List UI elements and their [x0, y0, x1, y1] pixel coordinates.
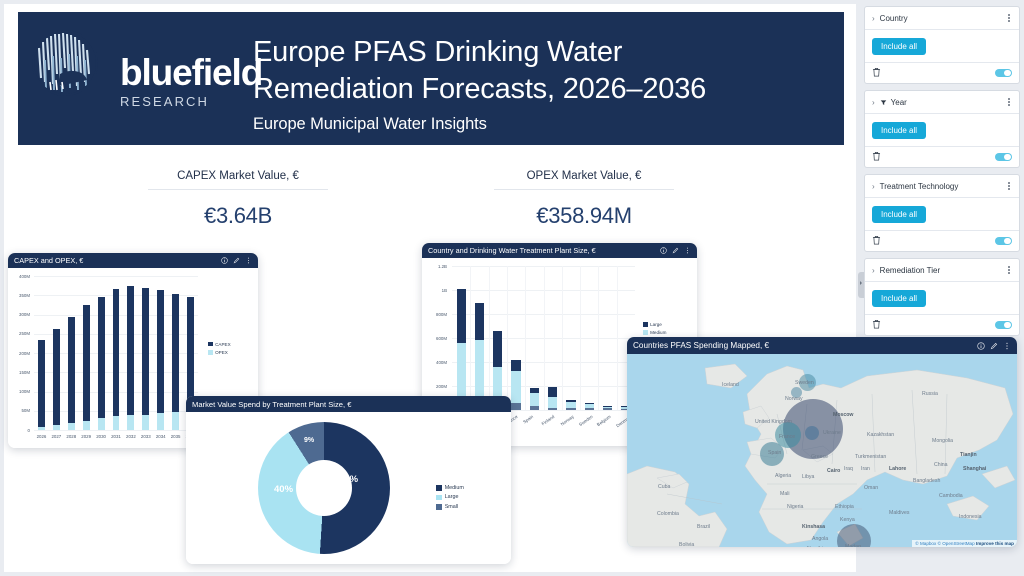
bar-segment-capex[interactable] [187, 297, 194, 411]
card-title: Country and Drinking Water Treatment Pla… [428, 246, 655, 255]
bar-segment-opex[interactable] [157, 413, 164, 430]
bar-segment-large[interactable] [475, 303, 484, 340]
bar-segment-opex[interactable] [127, 415, 134, 430]
map-bubble-italy[interactable] [805, 426, 819, 440]
x-axis-tick: 2028 [64, 434, 79, 439]
legend-label: Small [445, 503, 458, 511]
bar-segment-small[interactable] [603, 408, 612, 410]
legend-swatch [643, 322, 648, 327]
map-label: Bangladesh [913, 478, 940, 484]
map-label: Oman [864, 485, 878, 491]
bar-segment-medium[interactable] [603, 406, 612, 408]
filter-header[interactable]: ›Treatment Technology [865, 175, 1019, 198]
y-axis-tick: 250M [8, 331, 30, 336]
map-label: Mongolia [932, 438, 953, 444]
info-icon[interactable] [221, 257, 228, 264]
page-title-line1: Europe PFAS Drinking Water [253, 34, 833, 71]
legend-label: CAPEX [215, 341, 231, 348]
page-title-line2: Remediation Forecasts, 2026–2036 [253, 71, 833, 108]
x-axis-tick: 2033 [138, 434, 153, 439]
kebab-menu-icon[interactable] [1006, 266, 1012, 274]
legend-item: Medium [436, 484, 464, 492]
filter-name: Remediation Tier [880, 266, 1007, 275]
kpi-capex-market-value: CAPEX Market Value, € €3.64B [113, 166, 363, 229]
bar-segment-small[interactable] [566, 408, 575, 410]
x-axis-tick: Norway [559, 414, 574, 427]
vgridline [617, 266, 618, 410]
map-label: United Kingdom [755, 419, 792, 425]
y-axis-tick: 1.2B [422, 264, 447, 269]
donut-legend: MediumLargeSmall [436, 484, 464, 512]
toggle-switch-on[interactable] [995, 237, 1012, 246]
bar-segment-medium[interactable] [548, 397, 557, 408]
pencil-edit-icon[interactable] [990, 342, 998, 350]
legend-item: Large [436, 493, 464, 501]
vgridline [598, 266, 599, 410]
filter-card-year: ›YearInclude all [864, 90, 1020, 168]
map-label: Libya [802, 474, 814, 480]
vgridline [562, 266, 563, 410]
vgridline [544, 266, 545, 410]
bar-segment-large[interactable] [566, 400, 575, 401]
x-axis-tick: 2034 [153, 434, 168, 439]
pencil-edit-icon[interactable] [672, 247, 679, 254]
map-viewport[interactable]: IcelandSwedenNorwayUnited KingdomFranceS… [627, 354, 1017, 547]
y-axis-tick: 300M [8, 312, 30, 317]
bar-segment-small[interactable] [511, 403, 520, 410]
bar-segment-opex[interactable] [113, 416, 120, 430]
card-header: Market Value Spend by Treatment Plant Si… [186, 396, 511, 412]
legend-item: Small [436, 503, 464, 511]
map-label: Cairo [827, 468, 840, 474]
chevron-right-icon[interactable]: › [872, 98, 875, 107]
y-axis-tick: 800M [422, 312, 447, 317]
map-label: Maldives [889, 510, 909, 516]
bar-segment-capex[interactable] [113, 289, 120, 416]
vgridline [507, 266, 508, 410]
filter-header[interactable]: ›Year [865, 91, 1019, 114]
donut-label-large: 40% [274, 484, 293, 495]
bar-segment-capex[interactable] [68, 317, 75, 423]
map-label: Angola [812, 536, 828, 542]
map-label: Sweden [795, 380, 814, 386]
map-label: Shanghai [963, 466, 986, 472]
filter-footer [865, 63, 1019, 83]
vgridline [470, 266, 471, 410]
legend-swatch [208, 350, 213, 355]
bar-segment-opex[interactable] [83, 421, 90, 430]
page-subtitle: Europe Municipal Water Insights [253, 115, 833, 134]
kpi-opex-market-value: OPEX Market Value, € €358.94M [459, 166, 709, 229]
legend-item: CAPEX [208, 341, 231, 348]
bar-segment-opex[interactable] [53, 425, 60, 430]
kebab-menu-icon[interactable] [245, 257, 252, 264]
chevron-right-icon[interactable]: › [872, 182, 875, 191]
filter-panel: ›CountryInclude all›YearInclude all›Trea… [864, 6, 1020, 342]
filter-footer [865, 231, 1019, 251]
card-pfas-spending-map[interactable]: Countries PFAS Spending Mapped, € [627, 337, 1017, 547]
legend-swatch [436, 495, 442, 501]
trash-delete-icon[interactable] [872, 316, 881, 334]
map-label: China [934, 462, 948, 468]
trash-delete-icon[interactable] [872, 64, 881, 82]
map-label: Madag [845, 544, 861, 547]
include-all-button[interactable]: Include all [872, 206, 926, 223]
filter-footer [865, 315, 1019, 335]
legend-label: Large [650, 321, 662, 328]
kebab-menu-icon[interactable] [1006, 98, 1012, 106]
brand-name: bluefield [120, 54, 262, 91]
y-axis-tick: 200M [422, 384, 447, 389]
legend-swatch [436, 504, 442, 510]
vgridline [489, 266, 490, 410]
dashboard-canvas: bluefield RESEARCH Europe PFAS Drinking … [0, 0, 1024, 576]
bar-segment-capex[interactable] [172, 294, 179, 411]
y-axis-tick: 1B [422, 288, 447, 293]
y-axis-tick: 100M [8, 389, 30, 394]
x-axis-tick: 2030 [94, 434, 109, 439]
map-label: Ukraine [823, 430, 841, 436]
gridline [34, 430, 198, 431]
y-axis-tick: 350M [8, 293, 30, 298]
vgridline [580, 266, 581, 410]
map-label: Mali [780, 491, 790, 497]
legend-swatch [643, 330, 648, 335]
bar-segment-small[interactable] [585, 408, 594, 410]
donut-label-small: 9% [304, 437, 314, 444]
bar-segment-capex[interactable] [38, 340, 45, 427]
map-label: Turkmenistan [855, 454, 886, 460]
bar-segment-capex[interactable] [98, 297, 105, 418]
map-label: Iraq [844, 466, 853, 472]
kebab-menu-icon[interactable] [1003, 342, 1011, 350]
chart-plot-area: 51% 40% 9% MediumLargeSmall [186, 412, 511, 564]
x-axis-tick: 2035 [168, 434, 183, 439]
legend-item: OPEX [208, 349, 231, 356]
x-axis-tick: Belgium [596, 414, 612, 427]
bar-segment-capex[interactable] [142, 288, 149, 415]
filter-header[interactable]: ›Remediation Tier [865, 259, 1019, 282]
map-label: Spain [768, 450, 781, 456]
bar-segment-capex[interactable] [157, 290, 164, 413]
kebab-menu-icon[interactable] [1006, 182, 1012, 190]
bar-segment-opex[interactable] [38, 427, 45, 430]
map-label: Brazil [697, 524, 710, 530]
bar-segment-medium[interactable] [585, 404, 594, 408]
map-label: Kinshasa [802, 524, 825, 530]
filter-card-remediation-tier: ›Remediation TierInclude all [864, 258, 1020, 336]
map-label: Ethiopia [835, 504, 854, 510]
trash-delete-icon[interactable] [872, 148, 881, 166]
gridline [34, 276, 198, 277]
kpi-opex-value: €358.94M [459, 203, 709, 229]
map-label: Algeria [775, 473, 791, 479]
toggle-switch-on[interactable] [995, 69, 1012, 78]
filter-body: Include all [865, 30, 1019, 63]
toggle-switch-on[interactable] [995, 321, 1012, 330]
bar-segment-opex[interactable] [172, 412, 179, 430]
bar-segment-medium[interactable] [511, 371, 520, 403]
legend-label: Medium [445, 484, 464, 492]
filter-name: Country [880, 14, 1007, 23]
map-label: Kazakhstan [867, 432, 894, 438]
y-axis-tick: 50M [8, 408, 30, 413]
kpi-capex-label: CAPEX Market Value, € [148, 170, 328, 190]
map-label: Namibia [807, 546, 826, 547]
x-axis-tick: 2031 [109, 434, 124, 439]
legend-label: Medium [650, 329, 666, 336]
toggle-switch-on[interactable] [995, 153, 1012, 162]
map-label: Cambodia [939, 493, 963, 499]
x-axis-tick: 2026 [34, 434, 49, 439]
bar-segment-opex[interactable] [68, 423, 75, 430]
brand-wordmark: bluefield RESEARCH [120, 54, 262, 109]
filter-header[interactable]: ›Country [865, 7, 1019, 30]
improve-map-link[interactable]: Improve this map [976, 541, 1014, 546]
kebab-menu-icon[interactable] [684, 247, 691, 254]
y-axis-tick: 0 [8, 428, 30, 433]
filter-name: Treatment Technology [880, 182, 1007, 191]
bar-segment-large[interactable] [603, 406, 612, 407]
kpi-capex-value: €3.64B [113, 203, 363, 229]
x-axis-tick: Finland [541, 414, 556, 426]
toggle-knob [1004, 322, 1011, 329]
include-all-button[interactable]: Include all [872, 38, 926, 55]
chart-legend: CAPEXOPEX [208, 341, 231, 357]
info-icon[interactable] [660, 247, 667, 254]
bar-segment-opex[interactable] [98, 418, 105, 430]
bar-segment-capex[interactable] [127, 286, 134, 415]
y-axis-tick: 150M [8, 370, 30, 375]
brand-logo: bluefield RESEARCH [32, 30, 102, 100]
legend-item: Large [643, 321, 666, 328]
kpi-opex-label: OPEX Market Value, € [494, 170, 674, 190]
map-label: Iceland [722, 382, 739, 388]
map-label: Indonesia [959, 514, 982, 520]
vgridline [525, 266, 526, 410]
chevron-right-icon[interactable]: › [872, 266, 875, 275]
card-header: CAPEX and OPEX, € [8, 253, 258, 268]
brand-subtitle: RESEARCH [120, 94, 262, 109]
y-axis-tick: 400M [422, 360, 447, 365]
card-title: Countries PFAS Spending Mapped, € [633, 341, 972, 350]
map-label: Russia [922, 391, 938, 397]
filter-body: Include all [865, 198, 1019, 231]
y-axis-tick: 200M [8, 351, 30, 356]
x-axis-tick: Spain [522, 414, 534, 425]
map-label: Greece [811, 454, 828, 460]
x-axis-tick: 2027 [49, 434, 64, 439]
funnel-filter-icon [880, 99, 887, 106]
filter-card-treatment-technology: ›Treatment TechnologyInclude all [864, 174, 1020, 252]
card-title: Market Value Spend by Treatment Plant Si… [192, 400, 505, 409]
bar-segment-large[interactable] [457, 289, 466, 344]
include-all-button[interactable]: Include all [872, 290, 926, 307]
x-axis-tick: Sweden [578, 414, 594, 427]
bar-segment-large[interactable] [530, 388, 539, 392]
bar-segment-capex[interactable] [83, 305, 90, 421]
card-spend-by-plant-size-donut[interactable]: Market Value Spend by Treatment Plant Si… [186, 396, 511, 564]
card-title: CAPEX and OPEX, € [14, 256, 216, 265]
toggle-knob [1004, 238, 1011, 245]
map-label: Tianjin [960, 452, 977, 458]
legend-label: Large [445, 493, 459, 501]
bar-segment-medium[interactable] [530, 393, 539, 406]
donut-label-medium: 51% [339, 474, 358, 485]
map-label: Norway [785, 396, 803, 402]
x-axis-tick: 2029 [79, 434, 94, 439]
include-all-button[interactable]: Include all [872, 122, 926, 139]
legend-swatch [436, 485, 442, 491]
filter-name: Year [891, 98, 1007, 107]
chevron-right-icon[interactable]: › [872, 14, 875, 23]
kebab-menu-icon[interactable] [1006, 14, 1012, 22]
card-header: Country and Drinking Water Treatment Pla… [422, 243, 697, 258]
y-axis-tick: 400M [8, 274, 30, 279]
filter-card-country: ›CountryInclude all [864, 6, 1020, 84]
bar-segment-medium[interactable] [457, 343, 466, 404]
legend-label: OPEX [215, 349, 228, 356]
x-axis-tick: 2032 [123, 434, 138, 439]
toggle-knob [1004, 70, 1011, 77]
filter-body: Include all [865, 282, 1019, 315]
y-axis-tick: 600M [422, 336, 447, 341]
bar-segment-small[interactable] [530, 406, 539, 410]
bar-segment-opex[interactable] [142, 415, 149, 430]
dashboard-header: bluefield RESEARCH Europe PFAS Drinking … [18, 12, 844, 145]
trash-delete-icon[interactable] [872, 232, 881, 250]
header-title-block: Europe PFAS Drinking Water Remediation F… [253, 34, 833, 134]
legend-item: Medium [643, 329, 666, 336]
map-label: Kenya [840, 517, 855, 523]
bar-segment-capex[interactable] [53, 329, 60, 425]
map-label: Colombia [657, 511, 679, 517]
bar-segment-large[interactable] [511, 360, 520, 371]
pencil-edit-icon[interactable] [233, 257, 240, 264]
map-label: France [779, 434, 795, 440]
map-label: Lahore [889, 466, 906, 472]
donut-hole [296, 460, 352, 516]
bar-segment-large[interactable] [585, 403, 594, 404]
map-attribution[interactable]: © Mapbox © OpenStreetMap Improve this ma… [912, 540, 1017, 547]
map-label: Moscow [833, 412, 853, 418]
bar-segment-large[interactable] [493, 331, 502, 368]
map-label: Nigeria [787, 504, 803, 510]
bar-segment-medium[interactable] [566, 402, 575, 409]
map-label: Bolivia [679, 542, 694, 547]
filter-body: Include all [865, 114, 1019, 147]
bar-segment-large[interactable] [548, 387, 557, 397]
bar-segment-small[interactable] [548, 408, 557, 410]
legend-swatch [208, 342, 213, 347]
map-label: Iran [861, 466, 870, 472]
bluefield-striped-circle-logo-icon [32, 30, 98, 96]
osm-attribution[interactable]: © OpenStreetMap [938, 541, 975, 546]
toggle-knob [1004, 154, 1011, 161]
mapbox-attribution[interactable]: © Mapbox [915, 541, 936, 546]
map-label: Cuba [658, 484, 670, 490]
filter-footer [865, 147, 1019, 167]
info-icon[interactable] [977, 342, 985, 350]
